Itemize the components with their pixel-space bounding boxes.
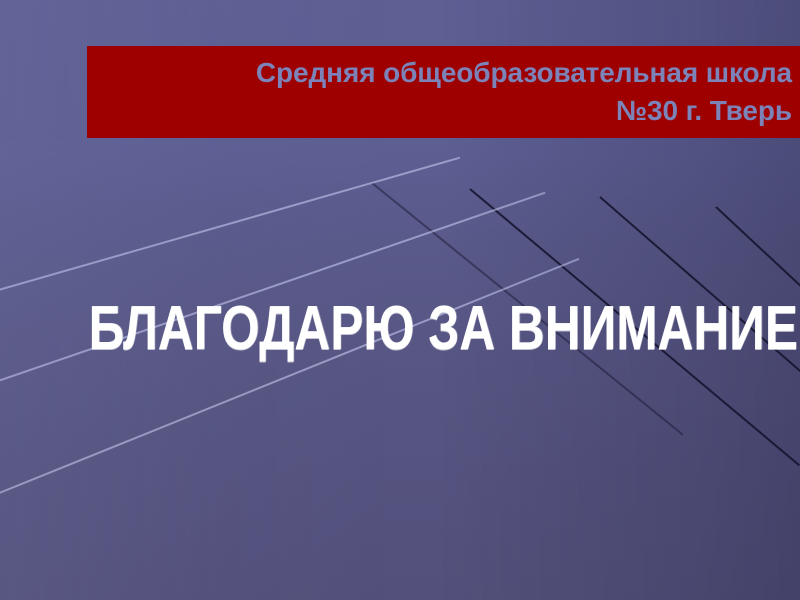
school-name-line-1: Средняя общеобразовательная школа <box>256 54 792 92</box>
perspective-grid-floor <box>0 140 800 600</box>
school-name-line-2: №30 г. Тверь <box>616 92 792 130</box>
presentation-slide: Средняя общеобразовательная школа №30 г.… <box>0 0 800 600</box>
thank-you-headline-text: БЛАГОДАРЮ ЗА ВНИМАНИЕ <box>89 296 798 362</box>
school-name-banner: Средняя общеобразовательная школа №30 г.… <box>87 46 800 138</box>
thank-you-headline: БЛАГОДАРЮ ЗА ВНИМАНИЕ <box>0 296 800 362</box>
